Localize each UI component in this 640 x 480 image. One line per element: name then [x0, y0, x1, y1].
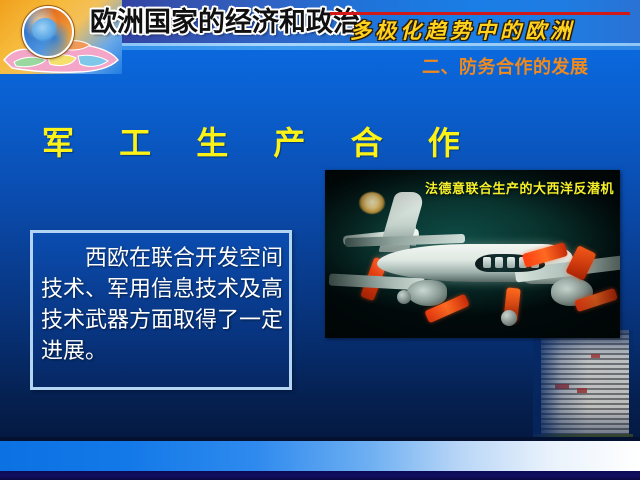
- aircraft-photo: 法德意联合生产的大西洋反潜机: [325, 170, 620, 338]
- bottom-navy-band: [0, 471, 640, 480]
- photo-caption: 法德意联合生产的大西洋反潜机: [325, 178, 614, 197]
- course-subtitle: 多极化趋势中的欧洲: [350, 15, 575, 45]
- globe-icon: [22, 6, 74, 58]
- building-photo-decoration: [533, 330, 633, 452]
- aircraft-landing-gear-1: [501, 310, 517, 326]
- presentation-slide: 欧洲国家的经济和政治 多极化趋势中的欧洲 二、防务合作的发展 军 工 生 产 合…: [0, 0, 640, 480]
- section-label: 二、防务合作的发展: [400, 56, 632, 80]
- content-textbox-body: 西欧在联合开发空间技术、军用信息技术及高技术武器方面取得了一定进展。: [41, 243, 285, 367]
- building-fade-overlay: [533, 330, 633, 452]
- content-textbox: 西欧在联合开发空间技术、军用信息技术及高技术武器方面取得了一定进展。: [30, 230, 292, 390]
- slide-title: 欧洲国家的经济和政治: [90, 3, 360, 43]
- aircraft-landing-gear-2: [397, 290, 411, 304]
- page-heading: 军 工 生 产 合 作: [42, 118, 477, 164]
- aircraft-engine-left: [407, 280, 447, 306]
- bottom-gradient-band: [0, 441, 640, 471]
